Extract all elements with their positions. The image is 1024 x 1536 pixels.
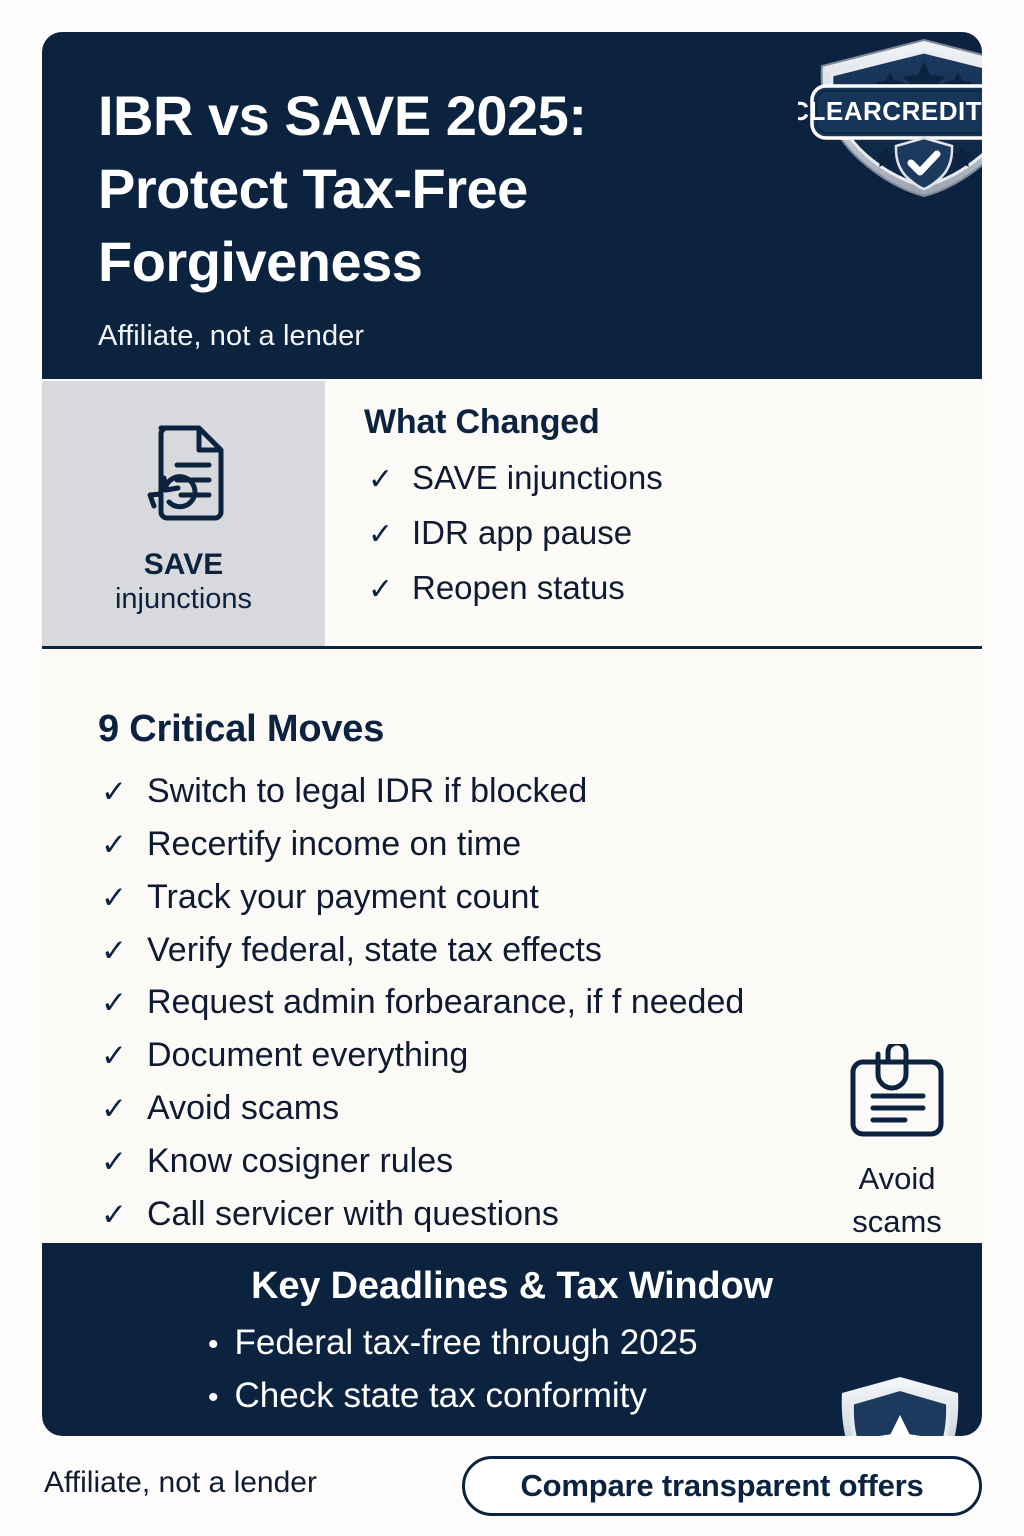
critical-moves-section: 9 Critical Moves ✓ Switch to legal IDR i… (42, 652, 982, 1242)
what-changed-section: SAVE injunctions What Changed ✓ SAVE inj… (42, 381, 982, 649)
list-item: ✓ IDR app pause (364, 507, 982, 558)
list-item-label: Recertify income on time (147, 818, 521, 871)
check-icon: ✓ (368, 457, 394, 502)
avoid-scams-callout: Avoid scams (802, 1044, 982, 1240)
check-icon: ✓ (101, 1033, 127, 1080)
check-icon: ✓ (101, 875, 127, 922)
list-item: • Federal tax-free through 2025 (42, 1316, 982, 1369)
what-changed-content: What Changed ✓ SAVE injunctions ✓ IDR ap… (325, 381, 982, 646)
check-icon: ✓ (368, 512, 394, 557)
footer-disclaimer: Affiliate, not a lender (44, 1466, 317, 1500)
check-icon: ✓ (101, 928, 127, 975)
list-item-label: Check state tax conformity (235, 1369, 647, 1422)
list-item-label: Request admin forbearance, if f needed (147, 976, 744, 1029)
star-shield-icon (830, 1371, 970, 1436)
list-item: ✓ SAVE injunctions (364, 452, 982, 503)
list-item-label: Switch to legal IDR if blocked (147, 765, 587, 818)
check-icon: ✓ (101, 822, 127, 869)
clipboard-paperclip-icon (839, 1137, 955, 1154)
list-item: ✓ Track your payment count (98, 871, 982, 924)
avoid-scams-caption-line2: scams (802, 1204, 982, 1241)
badge-brand-text: CLEARCREDITLOAN (798, 96, 982, 126)
check-icon: ✓ (101, 1192, 127, 1239)
list-item-label: Federal tax-free through 2025 (235, 1316, 698, 1369)
infographic-card: IBR vs SAVE 2025: Protect Tax-Free Forgi… (42, 32, 982, 1436)
list-item: ✓ Verify federal, state tax effects (98, 924, 982, 977)
list-item: ✓ Switch to legal IDR if blocked (98, 765, 982, 818)
check-icon: ✓ (101, 1086, 127, 1133)
list-item-label: Document everything (147, 1029, 468, 1082)
panel-caption: injunctions (115, 582, 252, 617)
page-title: IBR vs SAVE 2025: Protect Tax-Free Forgi… (98, 80, 738, 298)
list-item: ✓ Request admin forbearance, if f needed (98, 976, 982, 1029)
brand-badge[interactable]: CLEARCREDITLOAN (798, 32, 982, 202)
compare-offers-label: Compare transparent offers (520, 1468, 923, 1504)
avoid-scams-caption-line1: Avoid (802, 1161, 982, 1198)
list-item-label: Track your payment count (147, 871, 539, 924)
list-item-label: Know cosigner rules (147, 1135, 453, 1188)
list-item-label: Call servicer with questions (147, 1188, 559, 1241)
header-subtitle: Affiliate, not a lender (98, 320, 926, 353)
check-icon: ✓ (368, 567, 394, 612)
list-item-label: SAVE injunctions (412, 452, 663, 503)
panel-caption-strong: SAVE (144, 547, 223, 582)
key-deadlines-heading: Key Deadlines & Tax Window (42, 1265, 982, 1308)
list-item: ✓ Recertify income on time (98, 818, 982, 871)
list-item-label: Reopen status (412, 562, 625, 613)
bullet-dot-icon: • (208, 1375, 219, 1421)
list-item: ✓ Reopen status (364, 562, 982, 613)
critical-moves-heading: 9 Critical Moves (98, 708, 982, 751)
key-deadlines-section: Key Deadlines & Tax Window • Federal tax… (42, 1243, 982, 1436)
bullet-dot-icon: • (208, 1322, 219, 1368)
what-changed-heading: What Changed (364, 403, 982, 442)
list-item-label: IDR app pause (412, 507, 632, 558)
check-icon: ✓ (101, 1139, 127, 1186)
save-injunctions-panel: SAVE injunctions (42, 381, 325, 646)
list-item-label: Avoid scams (147, 1082, 339, 1135)
check-icon: ✓ (101, 769, 127, 816)
check-icon: ✓ (101, 980, 127, 1027)
list-item-label: Verify federal, state tax effects (147, 924, 602, 977)
document-refresh-icon (121, 410, 247, 541)
compare-offers-button[interactable]: Compare transparent offers (462, 1456, 982, 1516)
